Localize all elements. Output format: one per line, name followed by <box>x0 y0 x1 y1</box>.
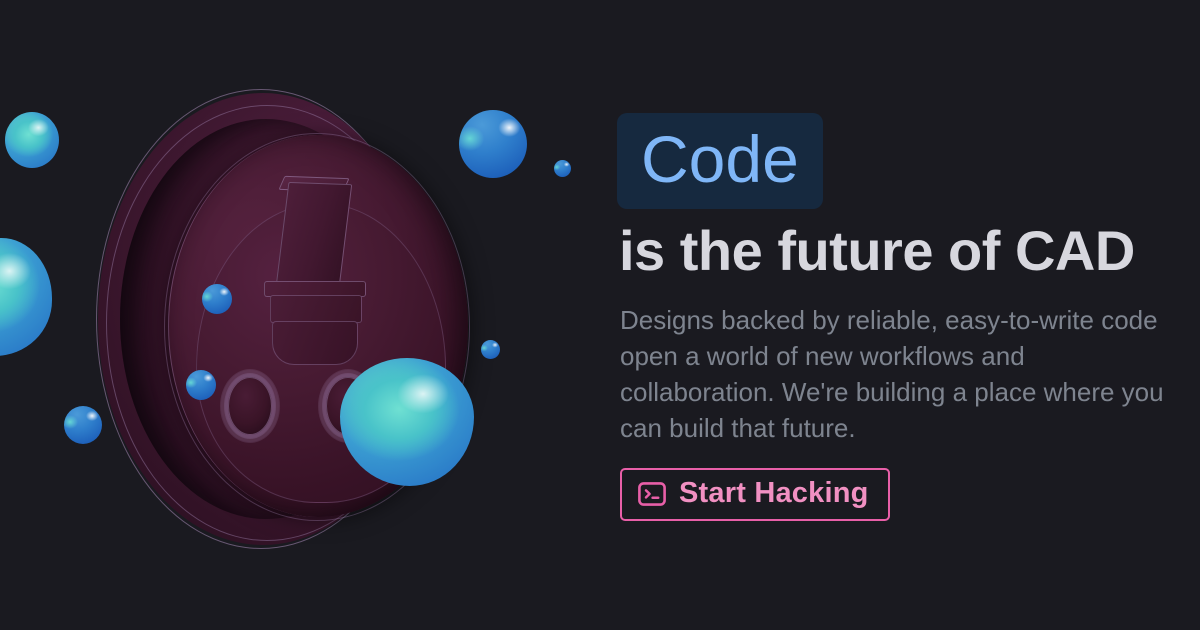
sphere-blue-disc-lower <box>186 370 216 400</box>
maroon-disc-assembly <box>60 85 480 560</box>
sphere-blue-bottom-left <box>64 406 102 444</box>
top-hat-neck-icon <box>272 321 358 365</box>
top-hat-band-icon <box>270 295 362 323</box>
hero-subtext: Designs backed by reliable, easy-to-writ… <box>620 302 1178 446</box>
sphere-teal-top-left <box>5 112 59 168</box>
start-hacking-button[interactable]: Start Hacking <box>620 468 890 521</box>
code-keyword-badge: Code <box>617 113 823 209</box>
engraved-left-eye <box>228 377 272 435</box>
hero-banner: Code is the future of CAD Designs backed… <box>0 0 1200 630</box>
sphere-blue-disc-upper <box>202 284 232 314</box>
start-hacking-label: Start Hacking <box>679 479 869 508</box>
sphere-teal-blob-left <box>0 238 52 356</box>
hero-copy: Code is the future of CAD Designs backed… <box>617 113 1177 521</box>
hero-headline: is the future of CAD <box>619 221 1177 280</box>
top-hat-crown-icon <box>276 182 352 288</box>
terminal-prompt-icon <box>638 482 666 506</box>
sphere-blue-dot-small <box>554 160 571 177</box>
cta-row: Start Hacking <box>620 468 1177 521</box>
hero-artwork <box>0 0 600 630</box>
sphere-blue-dot-mid <box>481 340 500 359</box>
sphere-blue-top-middle <box>459 110 527 178</box>
